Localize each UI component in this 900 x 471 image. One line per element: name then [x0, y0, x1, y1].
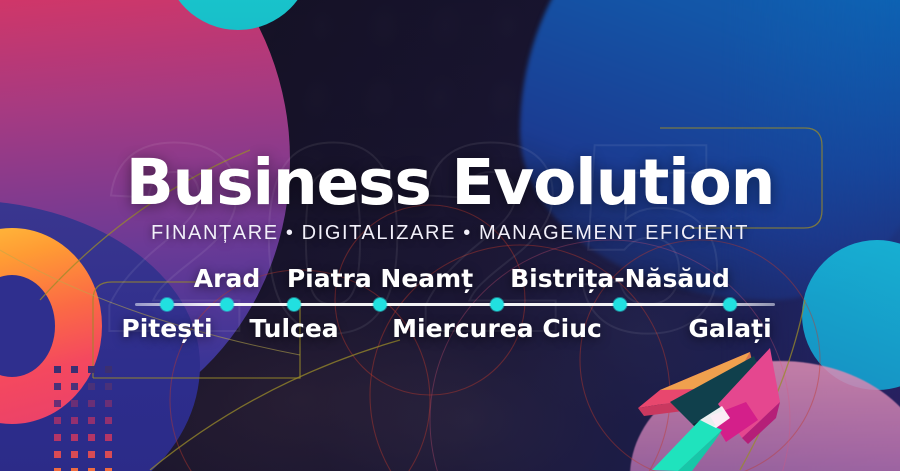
timeline-city-label[interactable]: Bistrița-Năsăud — [510, 264, 730, 293]
timeline-city-label[interactable]: Galați — [688, 314, 771, 343]
timeline-dot-2[interactable] — [288, 298, 301, 311]
timeline-dot-0[interactable] — [161, 298, 174, 311]
timeline-city-label[interactable]: Miercurea Ciuc — [392, 314, 602, 343]
page-title: Business Evolution — [0, 146, 900, 219]
event-banner: 2025 Business Evolution FINANȚARE • DIGI… — [0, 0, 900, 471]
timeline-dot-6[interactable] — [724, 298, 737, 311]
city-timeline: PiteștiAradTulceaPiatra NeamțMiercurea C… — [0, 278, 900, 348]
timeline-dot-3[interactable] — [374, 298, 387, 311]
timeline-city-label[interactable]: Pitești — [121, 314, 212, 343]
timeline-city-label[interactable]: Piatra Neamț — [287, 264, 473, 293]
timeline-dot-5[interactable] — [614, 298, 627, 311]
timeline-city-label[interactable]: Arad — [194, 264, 260, 293]
timeline-city-label[interactable]: Tulcea — [249, 314, 338, 343]
paper-plane-icon — [630, 346, 830, 471]
timeline-dot-4[interactable] — [491, 298, 504, 311]
timeline-dot-1[interactable] — [221, 298, 234, 311]
banner-subtitle: FINANȚARE • DIGITALIZARE • MANAGEMENT EF… — [0, 222, 900, 245]
